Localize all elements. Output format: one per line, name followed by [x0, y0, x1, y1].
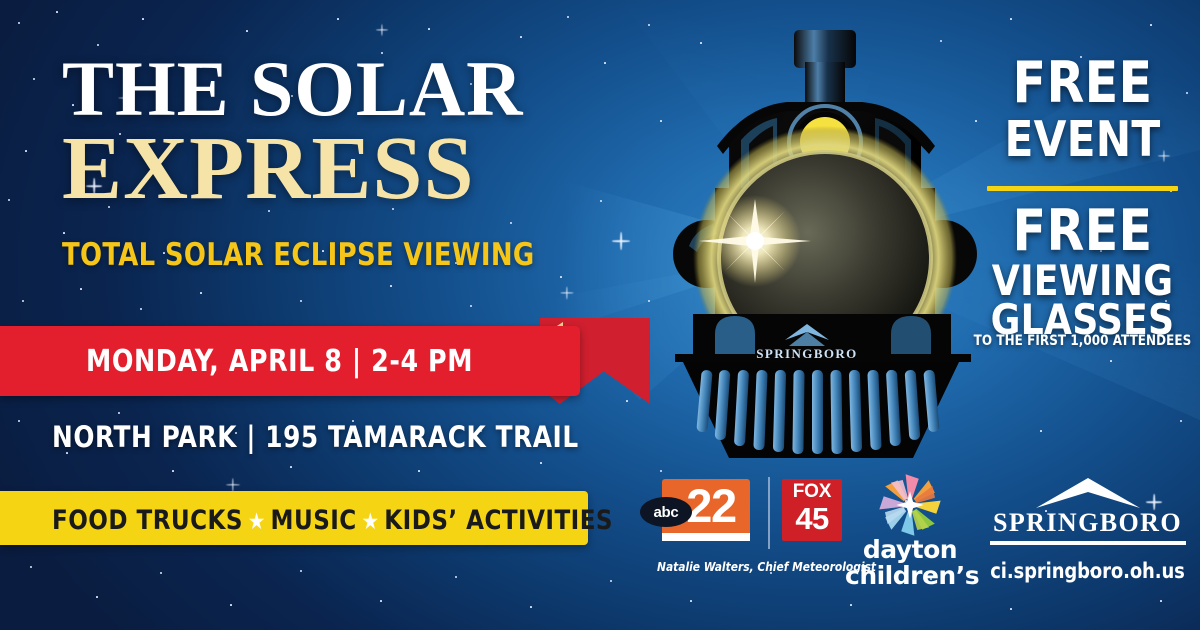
abc22-fox45-logo[interactable]: 22 abc FOX 45 Natalie Walters, Chief Met…	[640, 477, 820, 541]
features-text: FOOD TRUCKS★MUSIC★KIDS’ ACTIVITIES	[52, 505, 613, 536]
star-separator-icon: ★	[243, 509, 271, 535]
abc-wordmark: abc	[640, 497, 692, 527]
meteorologist-credit: Natalie Walters, Chief Meteorologist	[657, 559, 847, 574]
springboro-wordmark: SPRINGBORO	[975, 508, 1200, 538]
springboro-roof-icon	[1032, 476, 1144, 510]
pinwheel-icon	[877, 474, 943, 536]
event-venue: NORTH PARK | 195 TAMARACK TRAIL	[52, 420, 579, 454]
springboro-rule	[990, 541, 1186, 545]
dayton-line2: children’s	[845, 564, 975, 588]
springboro-city-logo[interactable]: SPRINGBORO ci.springboro.oh.us	[975, 476, 1200, 583]
feature-food-trucks: FOOD TRUCKS	[52, 505, 243, 536]
page-title-line1: THE SOLAR	[62, 52, 523, 127]
feature-kids-activities: KIDS’ ACTIVITIES	[384, 505, 613, 536]
dayton-line1: dayton	[845, 538, 975, 562]
free-event-line2: EVENT	[970, 118, 1196, 161]
fox-wordmark: FOX	[782, 479, 842, 503]
feature-music: MUSIC	[271, 505, 357, 536]
fox45-badge: FOX 45	[782, 479, 842, 541]
dayton-childrens-logo[interactable]: dayton children’s	[845, 474, 975, 588]
offers-divider	[987, 186, 1178, 191]
free-event-line1: FREE	[970, 58, 1196, 108]
page-title-line2: EXPRESS	[62, 126, 475, 212]
fox-channel-number: 45	[782, 503, 842, 535]
eclipse-event-poster: THE SOLAR EXPRESS TOTAL SOLAR ECLIPSE VI…	[0, 0, 1200, 630]
logo-divider	[768, 477, 770, 549]
poster-copy-column: THE SOLAR EXPRESS TOTAL SOLAR ECLIPSE VI…	[0, 0, 640, 630]
sponsor-logo-strip: 22 abc FOX 45 Natalie Walters, Chief Met…	[620, 472, 1200, 592]
event-date-time: MONDAY, APRIL 8 | 2-4 PM	[86, 344, 473, 379]
poster-subtitle: TOTAL SOLAR ECLIPSE VIEWING	[62, 237, 535, 273]
train-badge-label: SPRINGBORO	[756, 346, 857, 361]
offers-fine-print: TO THE FIRST 1,000 ATTENDEES	[971, 333, 1194, 349]
locomotive-illustration: SPRINGBORO	[637, 18, 1007, 468]
free-glasses-line1: FREE	[970, 206, 1196, 256]
star-separator-icon: ★	[357, 509, 385, 535]
date-ribbon: MONDAY, APRIL 8 | 2-4 PM	[0, 318, 660, 404]
springboro-url[interactable]: ci.springboro.oh.us	[981, 559, 1195, 583]
